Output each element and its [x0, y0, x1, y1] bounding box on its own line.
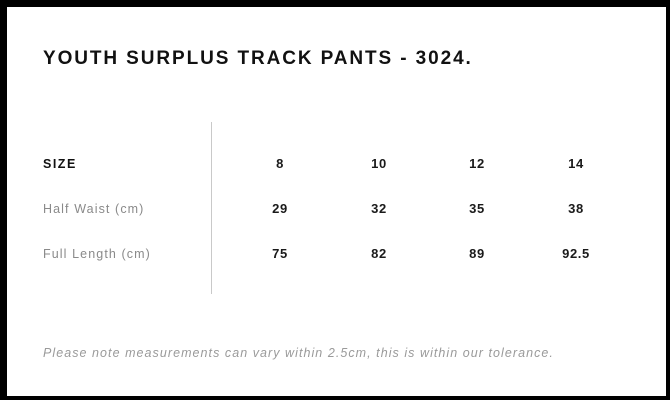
table-cell-full-length-14: 92.5 [531, 243, 621, 265]
table-cell-half-waist-14: 38 [531, 198, 621, 220]
table-header-row: SIZE 8 10 12 14 [7, 153, 666, 175]
table-cell-full-length-12: 89 [432, 243, 522, 265]
table-row-label-half-waist: Half Waist (cm) [43, 198, 144, 220]
table-cell-half-waist-12: 35 [432, 198, 522, 220]
table-header-cell-size-14: 14 [531, 153, 621, 175]
tolerance-footnote: Please note measurements can vary within… [43, 346, 554, 360]
page-title: YOUTH SURPLUS TRACK PANTS - 3024. [43, 48, 473, 70]
table-cell-half-waist-8: 29 [235, 198, 325, 220]
table-row: Half Waist (cm) 29 32 35 38 [7, 198, 666, 220]
table-header-cell-size-8: 8 [235, 153, 325, 175]
table-row-label-full-length: Full Length (cm) [43, 243, 151, 265]
size-chart-page: YOUTH SURPLUS TRACK PANTS - 3024. SIZE 8… [0, 0, 670, 400]
table-header-cell-size-12: 12 [432, 153, 522, 175]
table-cell-full-length-8: 75 [235, 243, 325, 265]
table-header-cell-size-10: 10 [334, 153, 424, 175]
table-cell-half-waist-10: 32 [334, 198, 424, 220]
table-cell-full-length-10: 82 [334, 243, 424, 265]
table-row: Full Length (cm) 75 82 89 92.5 [7, 243, 666, 265]
table-header-label-size: SIZE [43, 153, 77, 175]
size-chart-sheet: YOUTH SURPLUS TRACK PANTS - 3024. SIZE 8… [7, 7, 666, 396]
